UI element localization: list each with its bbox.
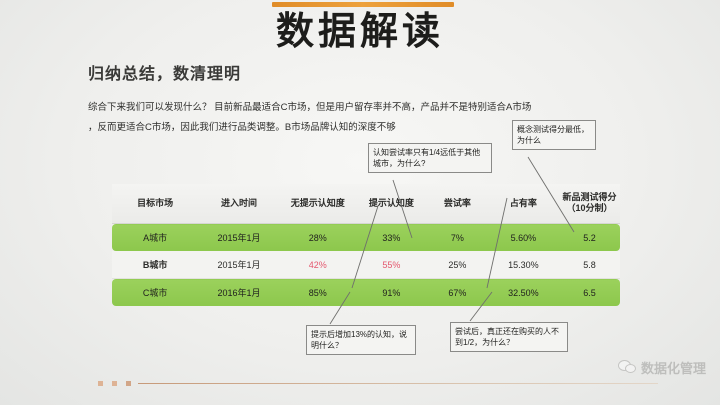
cell-try-rate: 7% xyxy=(427,224,488,252)
cell-score: 6.5 xyxy=(559,279,620,307)
market-data-table: 目标市场 进入时间 无提示认知度 提示认知度 尝试率 占有率 新品测试得分 （1… xyxy=(112,184,620,306)
table-header: 目标市场 进入时间 无提示认知度 提示认知度 尝试率 占有率 新品测试得分 （1… xyxy=(112,184,620,224)
cell-try-rate: 67% xyxy=(427,279,488,307)
col-header-score-line1: 新品测试得分 xyxy=(562,192,616,202)
table-header-row: 目标市场 进入时间 无提示认知度 提示认知度 尝试率 占有率 新品测试得分 （1… xyxy=(112,184,620,224)
cell-share: 5.60% xyxy=(488,224,559,252)
col-header-score-line2: （10分制） xyxy=(566,203,612,213)
slide-subtitle: 归纳总结，数清理明 xyxy=(88,60,241,84)
cell-enter-time: 2015年1月 xyxy=(198,251,279,279)
cell-enter-time: 2015年1月 xyxy=(198,224,279,252)
decoration-square xyxy=(126,381,131,386)
callout-concept-score[interactable]: 概念测试得分最低，为什么 xyxy=(512,120,596,150)
col-header-aided-awareness: 提示认知度 xyxy=(356,184,427,224)
cell-aided: 33% xyxy=(356,224,427,252)
table-row[interactable]: A城市 2015年1月 28% 33% 7% 5.60% 5.2 xyxy=(112,224,620,252)
cell-share: 32.50% xyxy=(488,279,559,307)
decoration-square xyxy=(98,381,103,386)
wechat-icon xyxy=(618,360,638,376)
cell-score: 5.8 xyxy=(559,251,620,279)
footer-divider xyxy=(138,383,658,384)
cell-unaided: 28% xyxy=(280,224,356,252)
cell-score: 5.2 xyxy=(559,224,620,252)
watermark-label: 数据化管理 xyxy=(641,358,706,377)
cell-enter-time: 2016年1月 xyxy=(198,279,279,307)
col-header-unaided-awareness: 无提示认知度 xyxy=(280,184,356,224)
cell-try-rate: 25% xyxy=(427,251,488,279)
cell-aided: 55% xyxy=(356,251,427,279)
data-table-wrapper: 目标市场 进入时间 无提示认知度 提示认知度 尝试率 占有率 新品测试得分 （1… xyxy=(112,184,620,306)
col-header-share: 占有率 xyxy=(488,184,559,224)
slide-canvas: 数据解读 归纳总结，数清理明 综合下来我们可以发现什么？ 目前新品最适合C市场，… xyxy=(0,0,720,405)
cell-market: A城市 xyxy=(112,224,198,252)
watermark: 数据化管理 xyxy=(618,358,706,377)
col-header-market: 目标市场 xyxy=(112,184,198,224)
callout-purchase-drop[interactable]: 尝试后，真正还在购买的人不到1/2，为什么？ xyxy=(450,322,568,352)
cell-unaided: 85% xyxy=(280,279,356,307)
callout-try-rate[interactable]: 认知尝试率只有1/4远低于其他城市，为什么? xyxy=(368,143,492,173)
cell-market: C城市 xyxy=(112,279,198,307)
title-accent-bar xyxy=(272,2,454,7)
col-header-try-rate: 尝试率 xyxy=(427,184,488,224)
col-header-new-product-score: 新品测试得分 （10分制） xyxy=(559,184,620,224)
callout-aided-lift[interactable]: 提示后增加13%的认知，说明什么？ xyxy=(306,325,416,355)
cell-aided: 91% xyxy=(356,279,427,307)
decoration-square xyxy=(112,381,117,386)
cell-market: B城市 xyxy=(112,251,198,279)
page-title: 数据解读 xyxy=(0,10,720,54)
table-row[interactable]: B城市 2015年1月 42% 55% 25% 15.30% 5.8 xyxy=(112,251,620,279)
table-body: A城市 2015年1月 28% 33% 7% 5.60% 5.2 B城市 201… xyxy=(112,224,620,307)
footer-decoration-dots xyxy=(98,381,135,386)
col-header-enter-time: 进入时间 xyxy=(198,184,279,224)
table-row[interactable]: C城市 2016年1月 85% 91% 67% 32.50% 6.5 xyxy=(112,279,620,307)
cell-unaided: 42% xyxy=(280,251,356,279)
body-line-1: 综合下来我们可以发现什么？ 目前新品最适合C市场，但是用户留存率并不高，产品并不… xyxy=(88,98,658,118)
cell-share: 15.30% xyxy=(488,251,559,279)
